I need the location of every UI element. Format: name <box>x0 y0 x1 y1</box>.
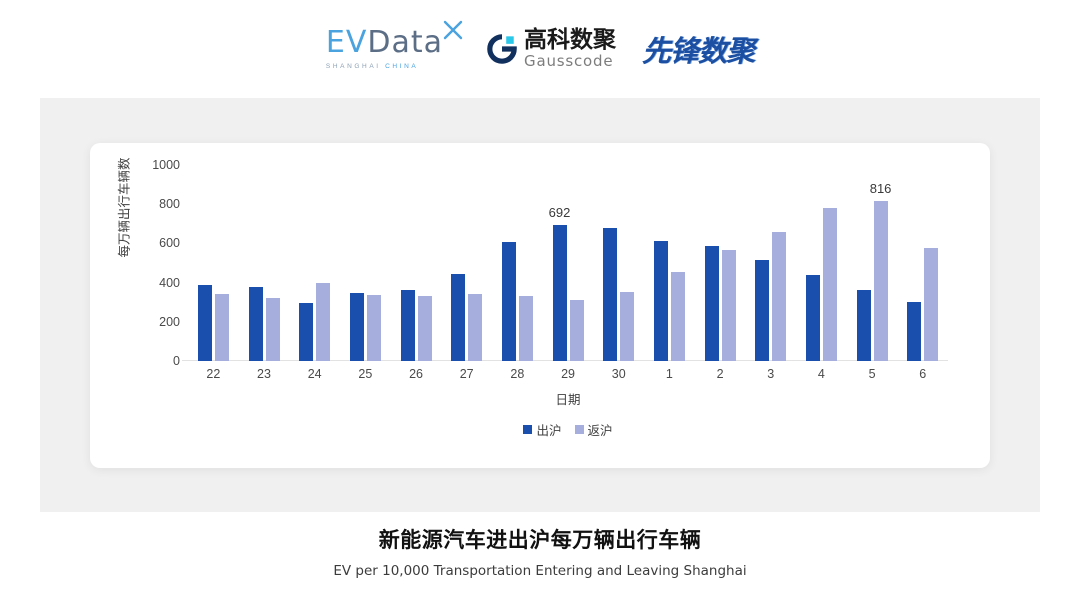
bar-group: 816 <box>847 165 898 361</box>
gausscode-cn-text: 高科数聚 <box>524 29 616 52</box>
y-tick-label: 800 <box>159 197 180 211</box>
bar-group <box>897 165 948 361</box>
bar-group <box>644 165 695 361</box>
x-tick-label: 23 <box>239 367 290 381</box>
bar-返沪-3[interactable] <box>772 232 786 361</box>
bar-返沪-28[interactable] <box>519 296 533 361</box>
y-tick-label: 600 <box>159 236 180 250</box>
evdata-tagline-country: CHINA <box>385 63 418 70</box>
bar-group <box>340 165 391 361</box>
gausscode-en-text: Gausscode <box>524 54 616 69</box>
x-tick-label: 5 <box>847 367 898 381</box>
bar-group <box>492 165 543 361</box>
chart-card: 每万辆出行车辆数 02004006008001000 692816 222324… <box>90 143 990 468</box>
y-tick-label: 0 <box>173 354 180 368</box>
legend-swatch <box>575 425 584 434</box>
chart-legend: 出沪返沪 <box>188 420 948 439</box>
x-axis-label: 日期 <box>188 389 948 408</box>
bar-返沪-24[interactable] <box>316 283 330 361</box>
y-tick-label: 1000 <box>152 158 180 172</box>
bar-返沪-2[interactable] <box>722 250 736 361</box>
bar-value-label: 816 <box>870 181 892 196</box>
x-tick-label: 27 <box>441 367 492 381</box>
evdata-tagline-city: SHANGHAI <box>326 63 381 70</box>
gausscode-logo: 高科数聚 Gausscode <box>487 29 616 69</box>
x-tick-label: 25 <box>340 367 391 381</box>
bar-group <box>745 165 796 361</box>
x-tick-label: 30 <box>593 367 644 381</box>
x-tick-label: 24 <box>289 367 340 381</box>
evdata-logo: EVData SHANGHAI CHINA <box>326 28 461 70</box>
logo-bar: EVData SHANGHAI CHINA 高科数聚 Gausscode 先锋数… <box>0 0 1080 92</box>
bar-出沪-27[interactable] <box>451 274 465 361</box>
bar-group <box>239 165 290 361</box>
bar-出沪-28[interactable] <box>502 242 516 361</box>
x-tick-label: 4 <box>796 367 847 381</box>
y-tick-label: 400 <box>159 276 180 290</box>
xianfeng-logo: 先锋数聚 <box>642 28 754 70</box>
bar-group <box>188 165 239 361</box>
x-tick-label: 29 <box>543 367 594 381</box>
bar-出沪-2[interactable] <box>705 246 719 361</box>
x-tick-label: 22 <box>188 367 239 381</box>
bar-出沪-22[interactable] <box>198 285 212 361</box>
bar-group <box>695 165 746 361</box>
footer-title-cn: 新能源汽车进出沪每万辆出行车辆 <box>0 524 1080 554</box>
bar-value-label: 692 <box>549 205 571 220</box>
bar-出沪-23[interactable] <box>249 287 263 361</box>
bar-返沪-30[interactable] <box>620 292 634 361</box>
bar-出沪-5[interactable] <box>857 290 871 361</box>
bar-出沪-1[interactable] <box>654 241 668 361</box>
bar-group <box>796 165 847 361</box>
y-axis-label: 每万辆出行车辆数 <box>114 138 133 278</box>
chart-panel: 每万辆出行车辆数 02004006008001000 692816 222324… <box>40 98 1040 512</box>
footer-title-en: EV per 10,000 Transportation Entering an… <box>0 563 1080 579</box>
bar-group <box>593 165 644 361</box>
bar-返沪-29[interactable] <box>570 300 584 361</box>
bar-出沪-4[interactable] <box>806 275 820 361</box>
legend-swatch <box>523 425 532 434</box>
bar-返沪-4[interactable] <box>823 208 837 361</box>
x-tick-label: 3 <box>745 367 796 381</box>
bar-group <box>441 165 492 361</box>
bar-group: 692 <box>543 165 594 361</box>
evdata-wordmark: EVData <box>326 28 461 58</box>
legend-label: 出沪 <box>536 420 561 439</box>
plot-area: 02004006008001000 692816 <box>188 165 948 361</box>
y-tick-label: 200 <box>159 315 180 329</box>
bar-出沪-3[interactable] <box>755 260 769 361</box>
bar-返沪-1[interactable] <box>671 272 685 361</box>
bar-返沪-22[interactable] <box>215 294 229 361</box>
bar-返沪-5[interactable]: 816 <box>874 201 888 361</box>
bar-group <box>289 165 340 361</box>
evdata-tagline: SHANGHAI CHINA <box>326 63 418 70</box>
bar-出沪-25[interactable] <box>350 293 364 361</box>
legend-item-出沪[interactable]: 出沪 <box>523 420 561 439</box>
bar-出沪-30[interactable] <box>603 228 617 361</box>
x-axis-ticks: 222324252627282930123456 <box>188 367 948 381</box>
g-circle-icon <box>487 34 517 64</box>
x-tick-label: 6 <box>897 367 948 381</box>
bar-返沪-23[interactable] <box>266 298 280 361</box>
x-mark-icon <box>443 20 463 40</box>
bar-出沪-6[interactable] <box>907 302 921 361</box>
bar-返沪-6[interactable] <box>924 248 938 361</box>
gausscode-wordmark: 高科数聚 Gausscode <box>524 29 616 69</box>
x-tick-label: 2 <box>695 367 746 381</box>
bar-返沪-25[interactable] <box>367 295 381 361</box>
footer-titles: 新能源汽车进出沪每万辆出行车辆 EV per 10,000 Transporta… <box>0 524 1080 579</box>
bar-出沪-29[interactable]: 692 <box>553 225 567 361</box>
bar-chart: 每万辆出行车辆数 02004006008001000 692816 222324… <box>90 143 990 468</box>
bar-返沪-27[interactable] <box>468 294 482 361</box>
bar-groups: 692816 <box>188 165 948 361</box>
xianfeng-cn-text: 先锋数聚 <box>642 34 754 68</box>
evdata-ev-text: EV <box>326 25 367 60</box>
bar-group <box>391 165 442 361</box>
legend-item-返沪[interactable]: 返沪 <box>575 420 613 439</box>
x-tick-label: 26 <box>391 367 442 381</box>
x-tick-label: 1 <box>644 367 695 381</box>
x-tick-label: 28 <box>492 367 543 381</box>
bar-出沪-26[interactable] <box>401 290 415 361</box>
evdata-data-text: Data <box>367 25 443 60</box>
legend-label: 返沪 <box>588 420 613 439</box>
bar-出沪-24[interactable] <box>299 303 313 361</box>
bar-返沪-26[interactable] <box>418 296 432 361</box>
